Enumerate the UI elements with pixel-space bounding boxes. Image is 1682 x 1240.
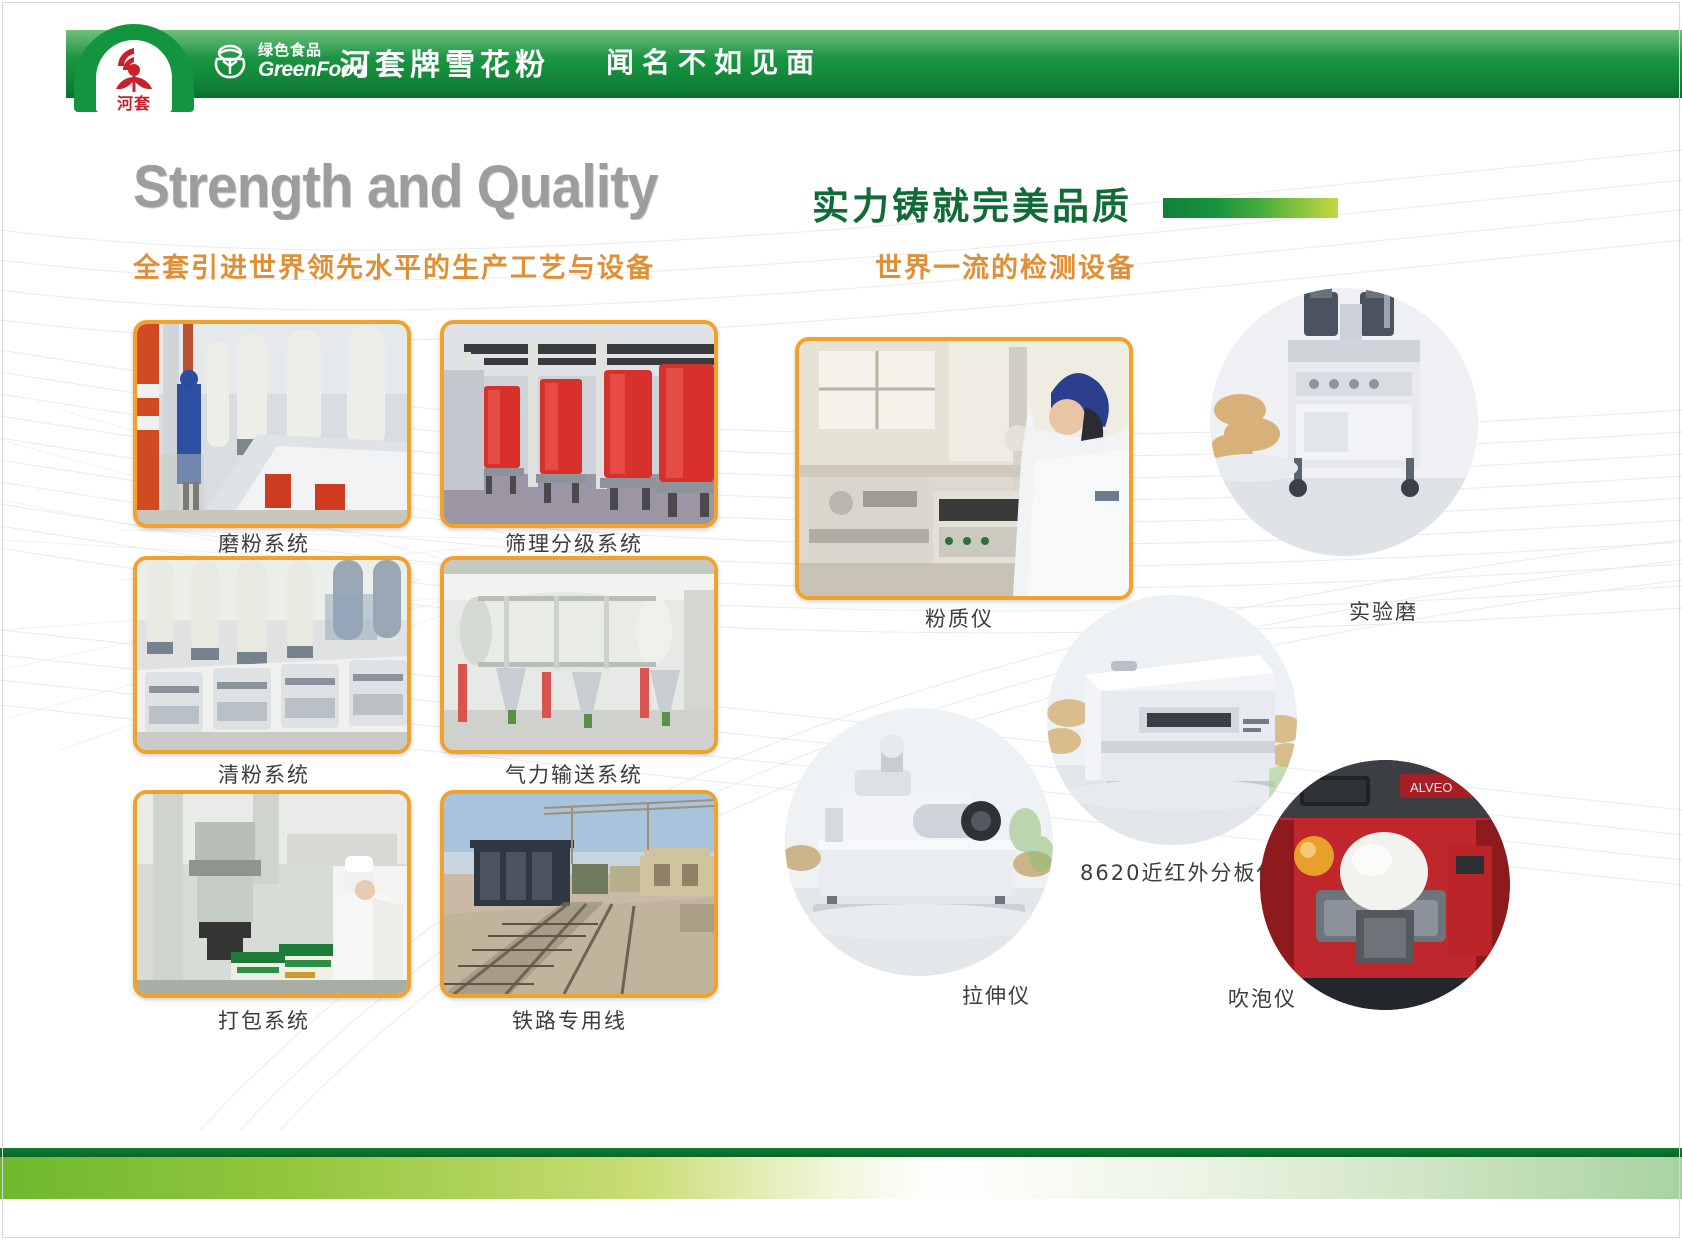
photo-experimental-mill <box>1210 288 1478 556</box>
title-accent-bar <box>1163 198 1338 218</box>
photo-packing-system <box>133 790 411 998</box>
caption-purifier-system: 清粉系统 <box>218 759 310 789</box>
photo-farinograph <box>795 337 1133 600</box>
photo-image <box>137 324 407 524</box>
photo-sifting-system <box>440 320 718 528</box>
photo-alveograph: ALVEO <box>1260 760 1510 1010</box>
footer-green-line <box>0 1148 1682 1157</box>
header-band-underline <box>0 92 1682 98</box>
photo-image <box>799 341 1129 596</box>
photo-image <box>137 560 407 750</box>
page-title-english: Strength and Quality <box>133 152 657 221</box>
caption-pneumatic-conveying-system: 气力输送系统 <box>505 759 643 789</box>
caption-extensograph: 拉伸仪 <box>962 980 1031 1010</box>
footer-gradient-band <box>0 1157 1682 1199</box>
photo-extensograph <box>785 708 1053 976</box>
caption-packing-system: 打包系统 <box>218 1005 310 1035</box>
header-tagline: 闻名不如见面 <box>606 41 822 81</box>
caption-alveograph: 吹泡仪 <box>1228 983 1297 1013</box>
photo-image <box>785 708 1053 976</box>
photo-railway-line <box>440 790 718 998</box>
brochure-page: 河套 绿色食品 GreenFood 河套牌雪花粉 闻名不如见面 Strength… <box>0 0 1682 1240</box>
photo-milling-system <box>133 320 411 528</box>
subtitle-lab: 世界一流的检测设备 <box>875 246 1136 285</box>
photo-purifier-system <box>133 556 411 754</box>
svg-text:ALVEO: ALVEO <box>1410 780 1452 795</box>
caption-milling-system: 磨粉系统 <box>218 528 310 558</box>
photo-image <box>137 794 407 994</box>
header-brand-slogan: 河套牌雪花粉 <box>340 40 550 84</box>
header-logo-notch <box>0 30 66 98</box>
photo-image <box>1210 288 1478 556</box>
page-title-chinese: 实力铸就完美品质 <box>812 176 1132 230</box>
caption-nir-analyzer: 8620近红外分板仪 <box>1080 857 1279 887</box>
photo-image: ALVEO <box>1260 760 1510 1010</box>
logo-wheat-emblem-icon <box>104 46 164 94</box>
caption-railway-line: 铁路专用线 <box>512 1005 627 1035</box>
photo-image <box>444 324 714 524</box>
caption-farinograph: 粉质仪 <box>925 603 994 633</box>
photo-image <box>444 794 714 994</box>
logo-company-name: 河套 <box>96 96 172 112</box>
subtitle-production: 全套引进世界领先水平的生产工艺与设备 <box>133 246 655 285</box>
greenfood-leaf-icon <box>210 42 250 82</box>
photo-pneumatic-conveying-system <box>440 556 718 754</box>
company-logo: 河套 <box>74 24 194 112</box>
footer-white-band <box>0 1199 1682 1240</box>
caption-sifting-system: 筛理分级系统 <box>505 528 643 558</box>
caption-experimental-mill: 实验磨 <box>1349 596 1418 626</box>
photo-image <box>444 560 714 750</box>
